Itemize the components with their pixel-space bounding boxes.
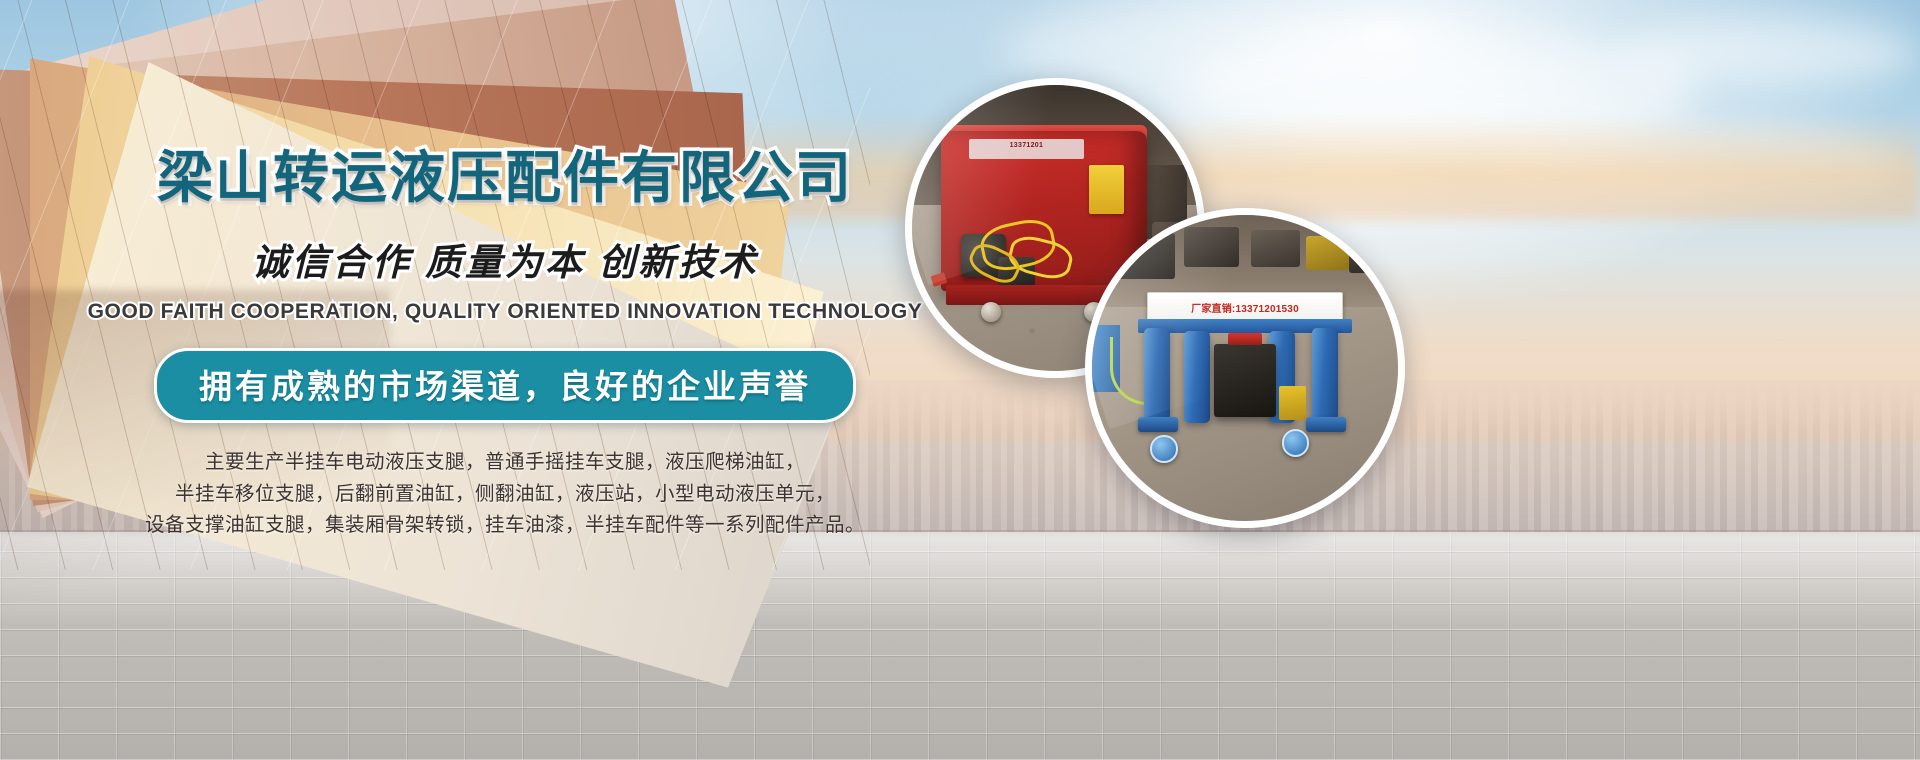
support-foot: [1138, 417, 1178, 432]
description-line: 主要生产半挂车电动液压支腿，普通手摇挂车支腿，液压爬梯油缸，: [145, 447, 865, 479]
background-equipment: [1306, 236, 1349, 270]
machine-label-text: 13371201: [969, 139, 1083, 152]
manufacturer-sign-text: 厂家直销:13371201530: [1191, 300, 1299, 315]
machine-label: 13371201: [969, 139, 1083, 159]
background-equipment: [1107, 233, 1174, 279]
cloud: [1000, 8, 1360, 88]
cloud: [1620, 18, 1920, 88]
slogan-chinese: 诚信合作 质量为本 创新技术: [252, 232, 759, 286]
background-equipment: [1349, 243, 1386, 274]
control-box: [1279, 386, 1307, 420]
ribbon-label: 拥有成熟的市场渠道，良好的企业声誉: [199, 360, 811, 408]
hydraulic-leg: [1312, 328, 1338, 420]
support-foot: [1306, 417, 1346, 432]
hydraulic-leg: [1184, 331, 1210, 423]
banner-text-block: 梁山转运液压配件有限公司 诚信合作 质量为本 创新技术 GOOD FAITH C…: [0, 150, 1010, 542]
caster-wheel: [981, 302, 1001, 322]
product-description: 主要生产半挂车电动液压支腿，普通手摇挂车支腿，液压爬梯油缸， 半挂车移位支腿，后…: [145, 447, 865, 542]
background-equipment: [1184, 227, 1239, 267]
caster-wheel: [1150, 435, 1178, 463]
background-equipment: [1251, 230, 1300, 267]
hydraulic-leg: [1144, 328, 1170, 420]
photo-blue-machine: 厂家直销:13371201530: [1085, 208, 1405, 528]
hero-banner: 梁山转运液压配件有限公司 诚信合作 质量为本 创新技术 GOOD FAITH C…: [0, 0, 1920, 760]
description-line: 半挂车移位支腿，后翻前置油缸，侧翻油缸，液压站，小型电动液压单元，: [145, 479, 865, 511]
slogan-english: GOOD FAITH COOPERATION, QUALITY ORIENTED…: [88, 300, 923, 324]
warning-sticker: [1089, 165, 1123, 214]
company-title: 梁山转运液压配件有限公司: [157, 150, 853, 206]
highlight-ribbon: 拥有成熟的市场渠道，良好的企业声誉: [154, 348, 856, 423]
hydraulic-power-unit: [1214, 344, 1275, 417]
caster-wheel: [1282, 429, 1310, 457]
description-line: 设备支撑油缸支腿，集装厢骨架转锁，挂车油漆，半挂车配件等一系列配件产品。: [145, 510, 865, 542]
